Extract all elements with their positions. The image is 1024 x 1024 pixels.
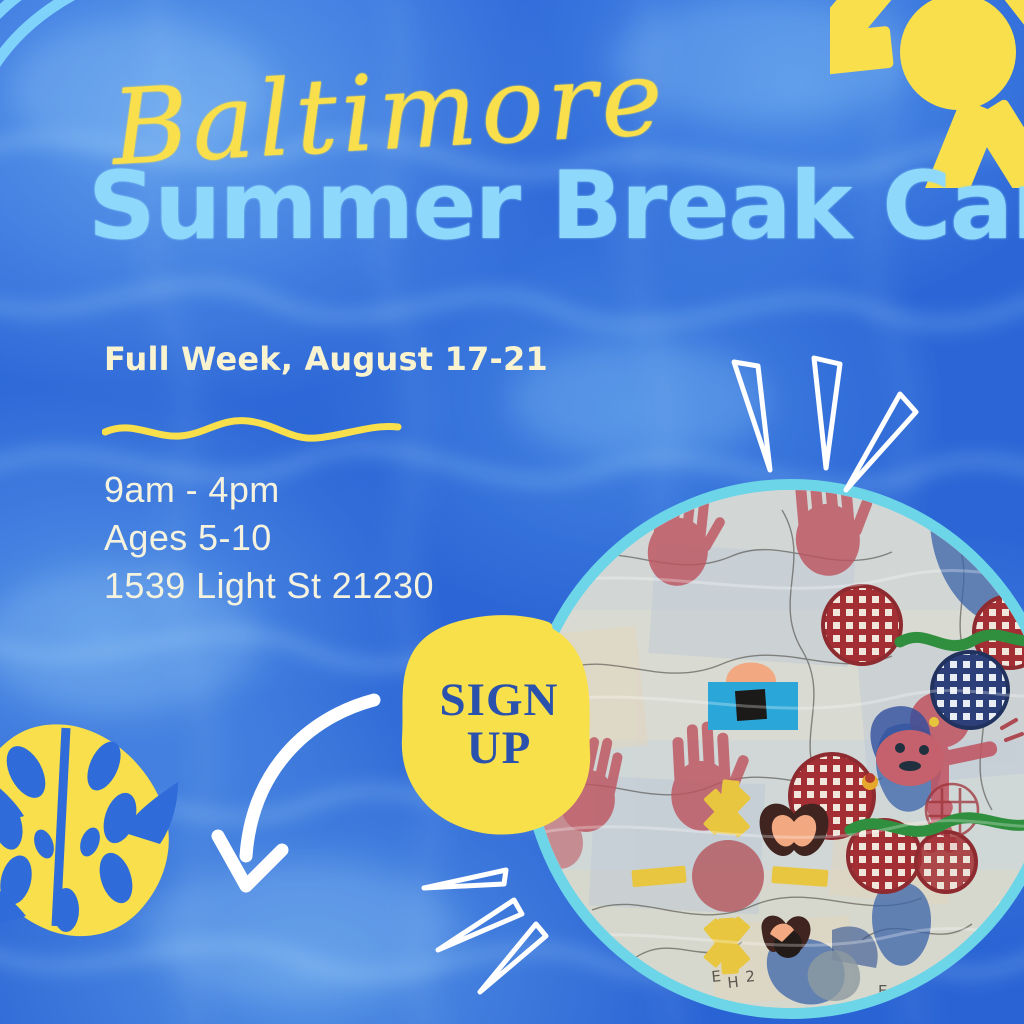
poster-canvas: Baltimore Summer Break Camp Full Week, A… (0, 0, 1024, 1024)
svg-text:E: E (711, 967, 722, 986)
photo-ring-border: E H 2 E N (521, 479, 1024, 1019)
sign-up-line-2: UP (467, 725, 532, 773)
detail-ages: Ages 5-10 (104, 514, 434, 562)
svg-text:H: H (727, 973, 740, 992)
wave-divider-icon (102, 412, 402, 446)
detail-hours: 9am - 4pm (104, 466, 434, 514)
date-subheading: Full Week, August 17-21 (104, 340, 548, 378)
sign-up-line-1: SIGN (440, 677, 559, 725)
monstera-leaf-icon (0, 720, 180, 940)
sparkle-rays-icon (718, 352, 928, 497)
svg-text:2: 2 (745, 967, 756, 986)
sparkle-rays-icon (418, 858, 568, 998)
svg-text:N: N (894, 986, 905, 1004)
headline-block: Baltimore Summer Break Camp (78, 84, 1008, 255)
svg-text:E: E (878, 982, 887, 1000)
artwork-photo-circle: E H 2 E N (521, 479, 1024, 1019)
curved-arrow-icon (208, 676, 448, 926)
details-list: 9am - 4pm Ages 5-10 1539 Light St 21230 (104, 466, 434, 610)
detail-address: 1539 Light St 21230 (104, 562, 434, 610)
childrens-collage-artwork-photo: E H 2 E N (532, 490, 1024, 1008)
